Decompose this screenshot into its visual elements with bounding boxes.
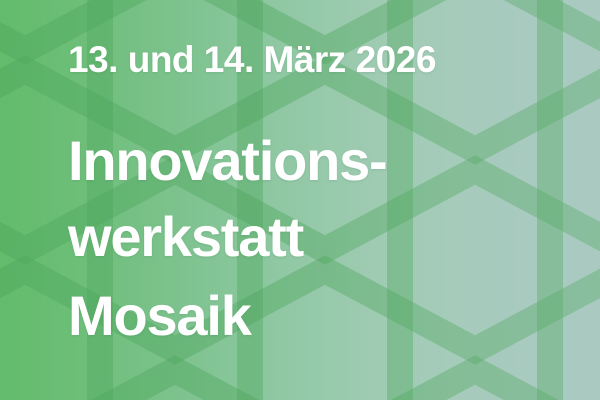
event-banner: 13. und 14. März 2026 Innovations- werks… — [0, 0, 600, 400]
page-title-line-3: Mosaik — [68, 288, 251, 344]
poster-text-block: 13. und 14. März 2026 Innovations- werks… — [68, 0, 588, 400]
page-title-line-2: werkstatt — [68, 209, 303, 265]
event-date: 13. und 14. März 2026 — [68, 41, 436, 78]
page-title-line-1: Innovations- — [68, 133, 386, 189]
